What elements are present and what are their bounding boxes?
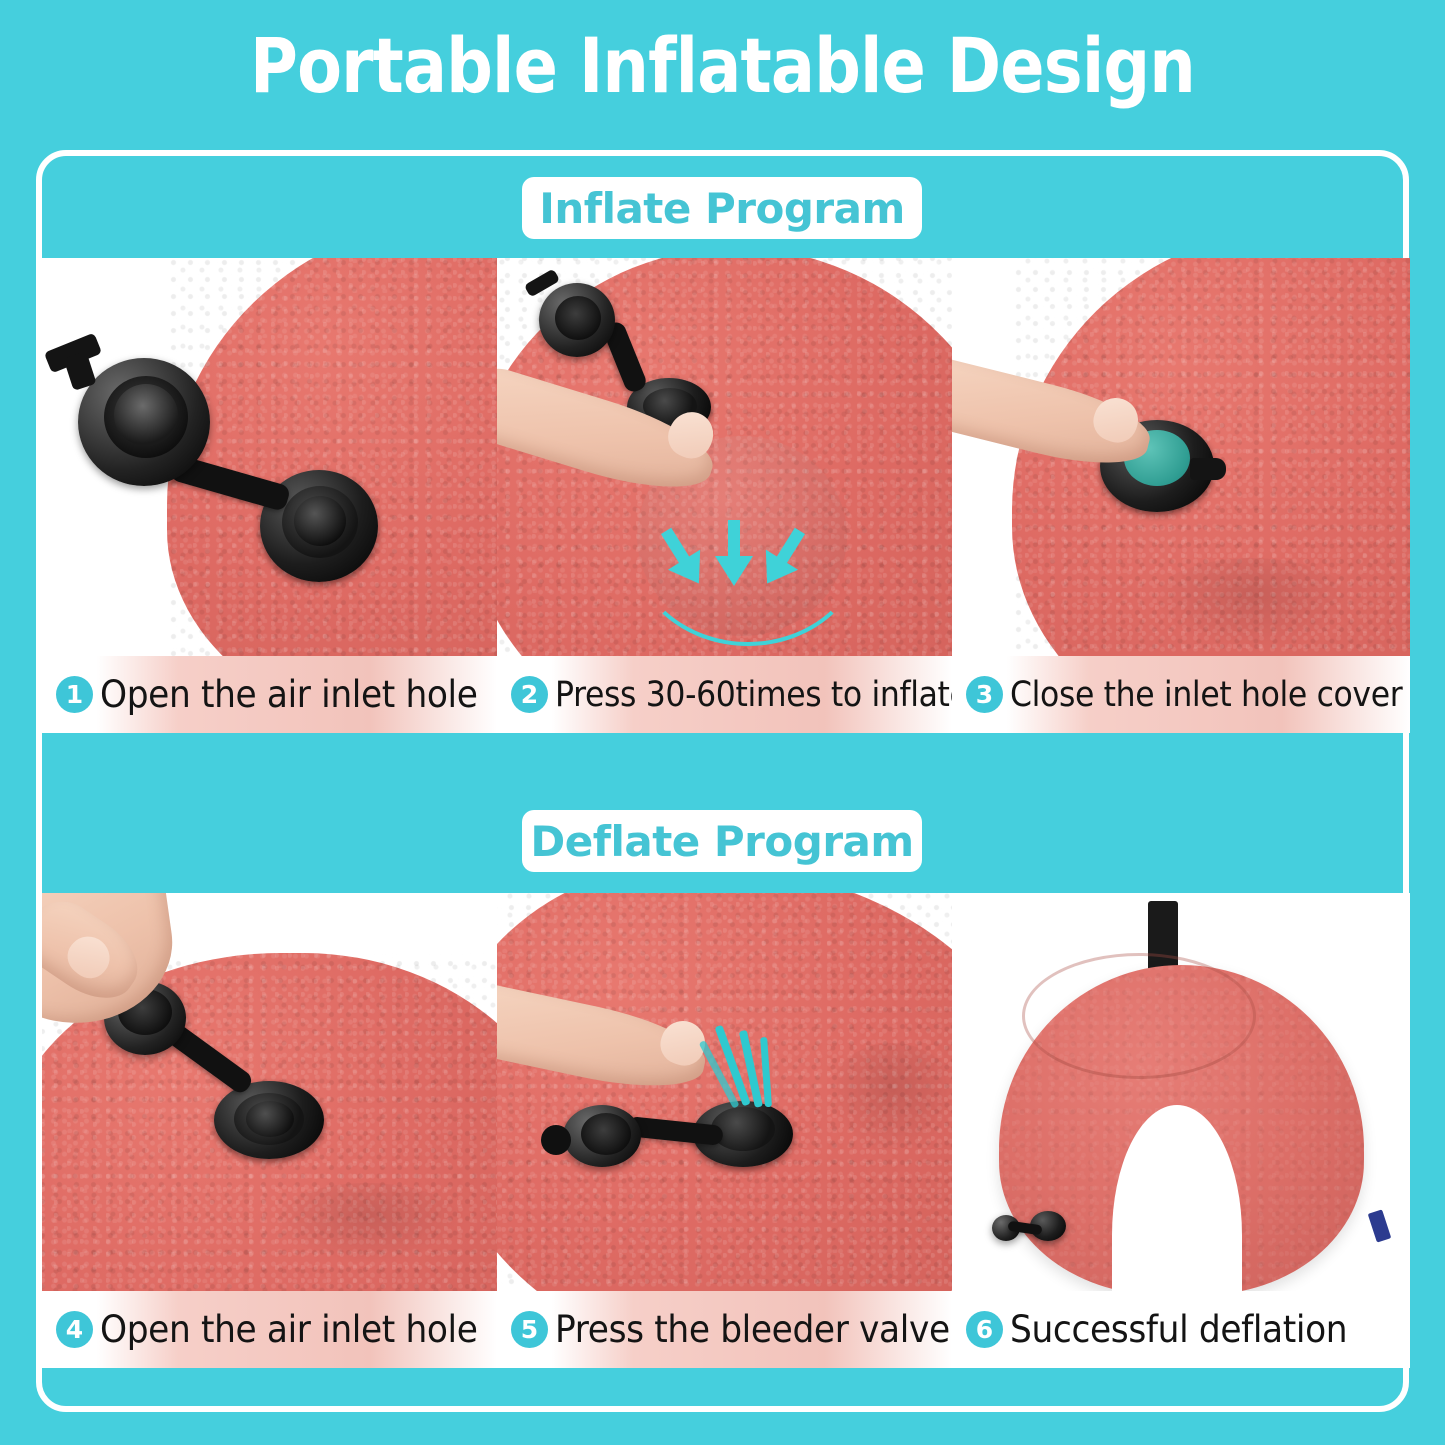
step-panel-5: 5 Press the bleeder valve [497, 893, 952, 1368]
step-caption: Open the air inlet hole [100, 1308, 478, 1351]
pillow-seam [1022, 953, 1256, 1079]
fabric-dimple [272, 1183, 462, 1263]
section-heading-inflate: Inflate Program [522, 177, 922, 239]
pillow-body [167, 258, 497, 656]
valve-cap-hole [555, 296, 601, 340]
step-6-photo [952, 893, 1410, 1291]
step-4-caption-band: 4 Open the air inlet hole [42, 1291, 497, 1368]
valve-pull-tab [541, 1125, 571, 1155]
step-caption: Open the air inlet hole [100, 673, 478, 716]
step-number-badge: 2 [511, 676, 548, 713]
fleece-texture [167, 258, 497, 656]
step-number-badge: 6 [966, 1311, 1003, 1348]
step-3-caption-band: 3 Close the inlet hole cover [952, 656, 1410, 733]
step-caption: Successful deflation [1010, 1308, 1347, 1351]
step-2-photo [497, 258, 952, 656]
step-number-badge: 5 [511, 1311, 548, 1348]
step-caption: Press the bleeder valve [555, 1308, 950, 1351]
step-5-photo [497, 893, 952, 1291]
section-heading-deflate: Deflate Program [522, 810, 922, 872]
step-5-caption-band: 5 Press the bleeder valve [497, 1291, 952, 1368]
fabric-dimple [1152, 558, 1352, 648]
step-6-caption-band: 6 Successful deflation [952, 1291, 1410, 1368]
step-4-photo [42, 893, 497, 1291]
step-panel-6: 6 Successful deflation [952, 893, 1410, 1368]
step-3-photo [952, 258, 1410, 656]
step-number-badge: 3 [966, 676, 1003, 713]
step-panel-3: 3 Close the inlet hole cover [952, 258, 1410, 733]
step-caption: Press 30-60times to inflate [555, 675, 952, 715]
page-title: Portable Inflatable Design [101, 28, 1344, 104]
step-1-photo [42, 258, 497, 656]
step-2-caption-band: 2 Press 30-60times to inflate [497, 656, 952, 733]
step-1-caption-band: 1 Open the air inlet hole [42, 656, 497, 733]
step-panel-1: 1 Open the air inlet hole [42, 258, 497, 733]
step-panel-2: 2 Press 30-60times to inflate [497, 258, 952, 733]
valve-base-plug [246, 1101, 294, 1137]
brand-tag [1368, 1209, 1392, 1242]
valve-cap-hole [581, 1113, 631, 1155]
step-panel-4: 4 Open the air inlet hole [42, 893, 497, 1368]
bulb-outline-arc [630, 438, 866, 646]
valve-cap-hole-inner [114, 384, 178, 446]
step-caption: Close the inlet hole cover [1010, 675, 1402, 715]
valve-base-plug [294, 496, 346, 546]
valve-tab [1190, 458, 1226, 480]
infographic-root: Portable Inflatable Design Inflate Progr… [0, 0, 1445, 1445]
step-number-badge: 1 [56, 676, 93, 713]
step-number-badge: 4 [56, 1311, 93, 1348]
pillow-arm-dimple [827, 1043, 952, 1153]
